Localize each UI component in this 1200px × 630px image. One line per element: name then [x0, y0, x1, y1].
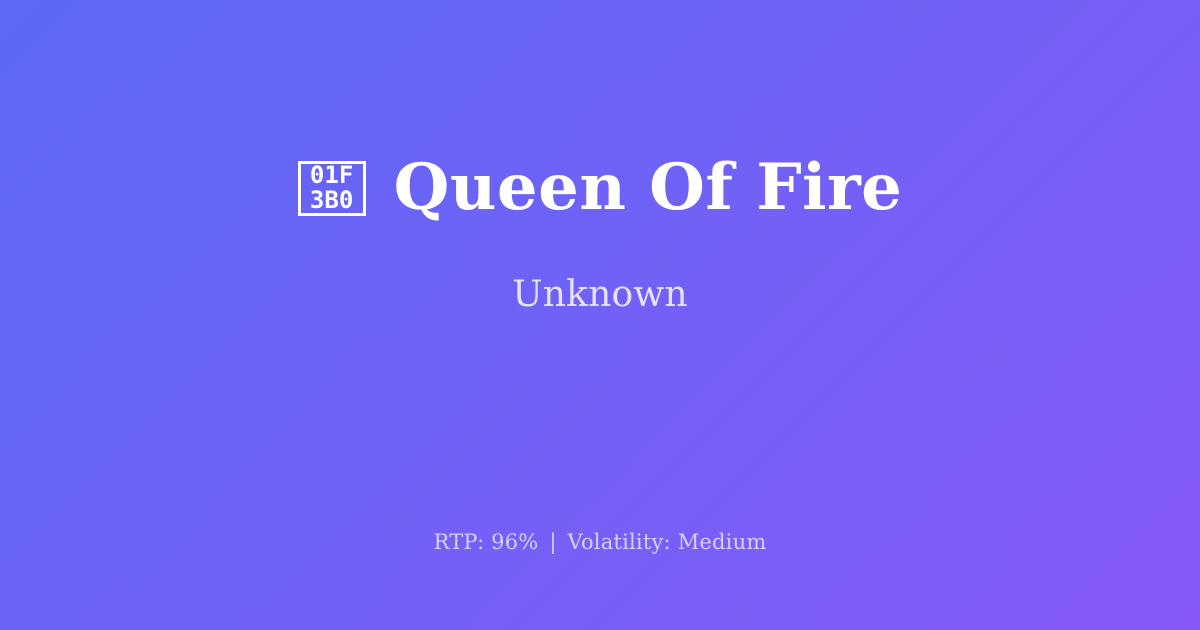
- og-share-card: 01F 3B0 Queen Of Fire Unknown RTP: 96% |…: [0, 0, 1200, 630]
- meta-separator: |: [545, 530, 560, 554]
- game-meta-line: RTP: 96% | Volatility: Medium: [0, 528, 1200, 556]
- hero-block: 01F 3B0 Queen Of Fire Unknown: [0, 0, 1200, 470]
- game-provider: Unknown: [512, 273, 688, 316]
- slot-machine-emoji-icon: 01F 3B0: [298, 161, 366, 216]
- rtp-label: RTP:: [434, 530, 485, 554]
- rtp-value: 96%: [491, 530, 538, 554]
- volatility-label: Volatility:: [568, 530, 671, 554]
- title-row: 01F 3B0 Queen Of Fire: [60, 154, 1140, 221]
- tofu-codepoint-line-1: 01F: [310, 163, 353, 188]
- tofu-codepoint-line-2: 3B0: [310, 188, 353, 213]
- game-title: Queen Of Fire: [394, 154, 903, 221]
- volatility-value: Medium: [678, 530, 767, 554]
